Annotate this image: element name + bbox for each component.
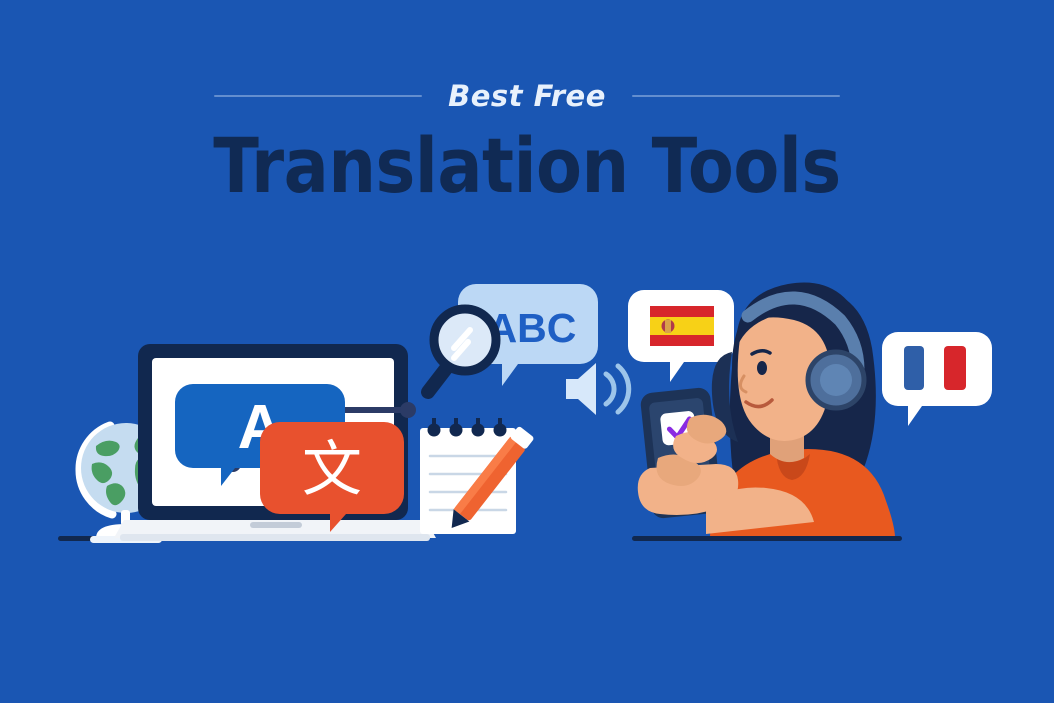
speaker-icon: [560, 358, 638, 420]
magnifying-glass: [418, 300, 510, 400]
poster-canvas: Best Free Translation Tools: [0, 0, 1054, 703]
svg-text:文: 文: [302, 435, 362, 505]
illustration-scene: A 文: [0, 0, 1054, 703]
woman-with-headphones: [636, 272, 916, 540]
spiral-notepad: [412, 414, 562, 546]
eye: [757, 361, 767, 375]
laptop-illustration: A 文: [120, 336, 430, 544]
